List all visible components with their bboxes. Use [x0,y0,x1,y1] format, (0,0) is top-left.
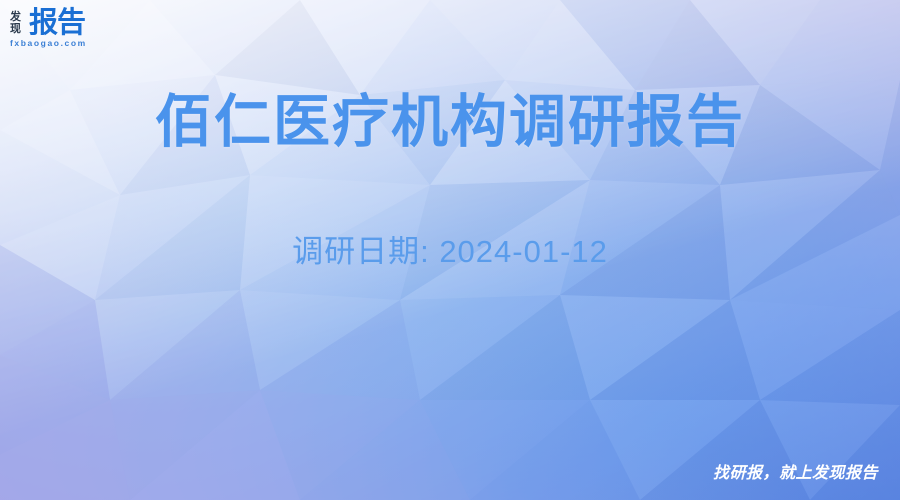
logo-stacked-characters: 发 现 [10,11,27,35]
footer-tagline: 找研报，就上发现报告 [713,464,878,484]
logo-domain-text: fxbaogao.com [10,38,87,48]
logo-wordmark: 报告 [29,8,85,38]
survey-date-subtitle: 调研日期: 2024-01-12 [0,232,900,272]
logo-char-fa: 发 [10,11,27,23]
page-title: 佰仁医疗机构调研报告 [0,88,900,156]
logo-char-xian: 现 [10,23,27,35]
brand-logo[interactable]: 发 现 报告 fxbaogao.com [10,8,96,50]
report-cover-slide: 发 现 报告 fxbaogao.com 佰仁医疗机构调研报告 调研日期: 202… [0,0,900,500]
